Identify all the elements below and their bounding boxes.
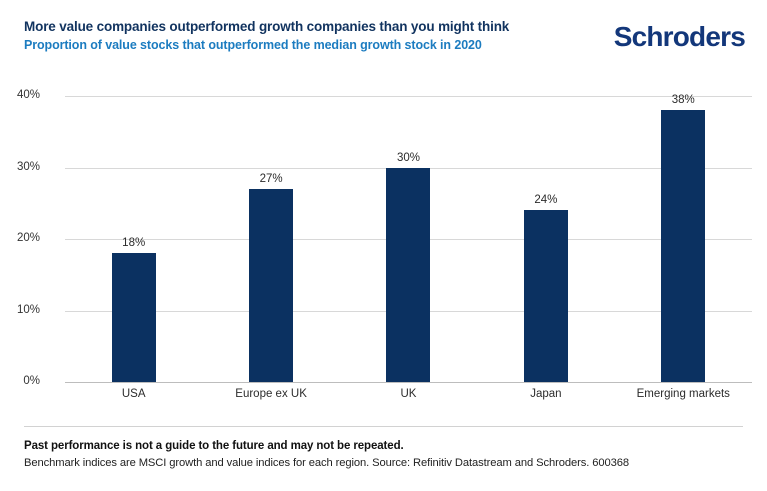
bar-group: 24%Japan <box>477 96 614 382</box>
source-text: Benchmark indices are MSCI growth and va… <box>24 455 743 471</box>
y-axis-tick-label: 0% <box>0 375 40 387</box>
x-axis-category-label: Europe ex UK <box>235 388 307 400</box>
bar[interactable] <box>249 189 293 382</box>
chart-header: More value companies outperformed growth… <box>0 0 767 68</box>
y-axis-tick-label: 30% <box>0 161 40 173</box>
bar-group: 18%USA <box>65 96 202 382</box>
bar-group: 27%Europe ex UK <box>202 96 339 382</box>
bar[interactable] <box>386 168 430 383</box>
page-title: More value companies outperformed growth… <box>24 18 509 35</box>
bar[interactable] <box>661 110 705 382</box>
plot-area: 0%10%20%30%40%18%USA27%Europe ex UK30%UK… <box>65 96 752 382</box>
bar[interactable] <box>112 253 156 382</box>
chart-footer: Past performance is not a guide to the f… <box>24 438 743 471</box>
gridline-0 <box>65 382 752 383</box>
bar-value-label: 27% <box>260 173 283 185</box>
bar[interactable] <box>524 210 568 382</box>
y-axis-tick-label: 10% <box>0 304 40 316</box>
page-subtitle: Proportion of value stocks that outperfo… <box>24 37 509 54</box>
schroders-logo: Schroders <box>614 22 745 52</box>
bar-value-label: 18% <box>122 237 145 249</box>
x-axis-category-label: Japan <box>530 388 561 400</box>
footer-divider <box>24 426 743 427</box>
x-axis-category-label: USA <box>122 388 146 400</box>
title-block: More value companies outperformed growth… <box>24 18 509 54</box>
bar-value-label: 30% <box>397 152 420 164</box>
bar-group: 30%UK <box>340 96 477 382</box>
x-axis-category-label: UK <box>400 388 416 400</box>
bar-value-label: 24% <box>534 194 557 206</box>
bar-group: 38%Emerging markets <box>615 96 752 382</box>
disclaimer-text: Past performance is not a guide to the f… <box>24 438 743 454</box>
bar-value-label: 38% <box>672 94 695 106</box>
y-axis-tick-label: 40% <box>0 89 40 101</box>
x-axis-category-label: Emerging markets <box>637 388 730 400</box>
chart-container: 0%10%20%30%40%18%USA27%Europe ex UK30%UK… <box>0 78 767 418</box>
y-axis-tick-label: 20% <box>0 232 40 244</box>
